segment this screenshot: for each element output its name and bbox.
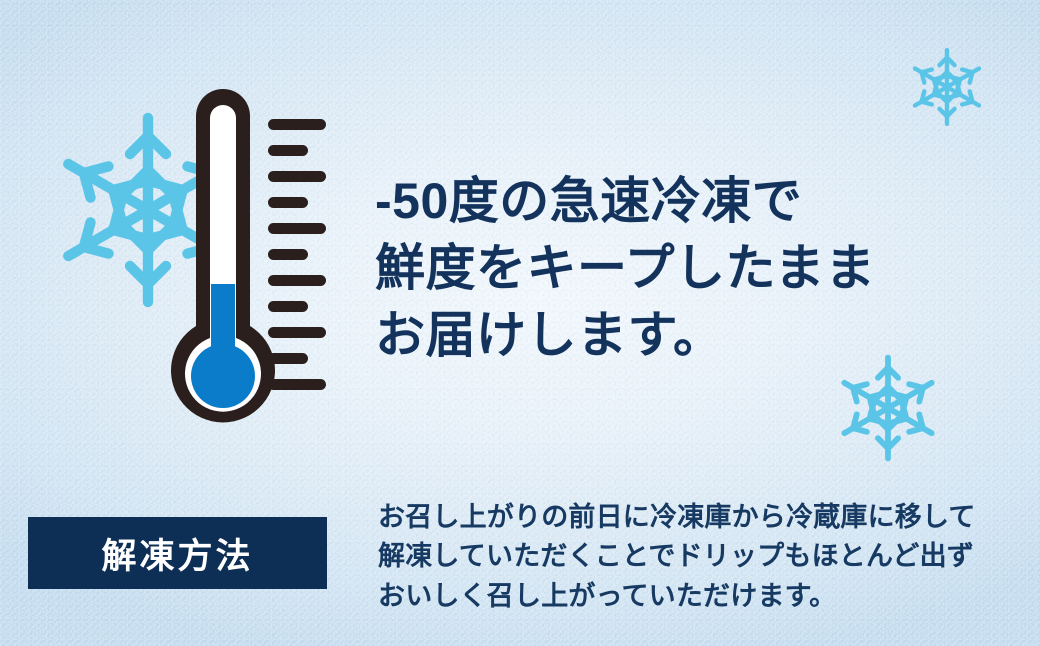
snowflake-small-top-right-icon (905, 45, 989, 129)
thawing-instructions-text: お召し上がりの前日に冷凍庫から冷蔵庫に移して 解凍していただくことでドリップもほ… (378, 498, 1018, 616)
frozen-delivery-banner: -50度の急速冷凍で 鮮度をキープしたまま お届けします。 (0, 0, 1040, 646)
thermometer-icon (148, 88, 348, 458)
badge-label: 解凍方法 (101, 528, 253, 579)
headline: -50度の急速冷凍で 鮮度をキープしたまま お届けします。 (375, 168, 1015, 369)
thawing-method-badge: 解凍方法 (28, 517, 327, 589)
